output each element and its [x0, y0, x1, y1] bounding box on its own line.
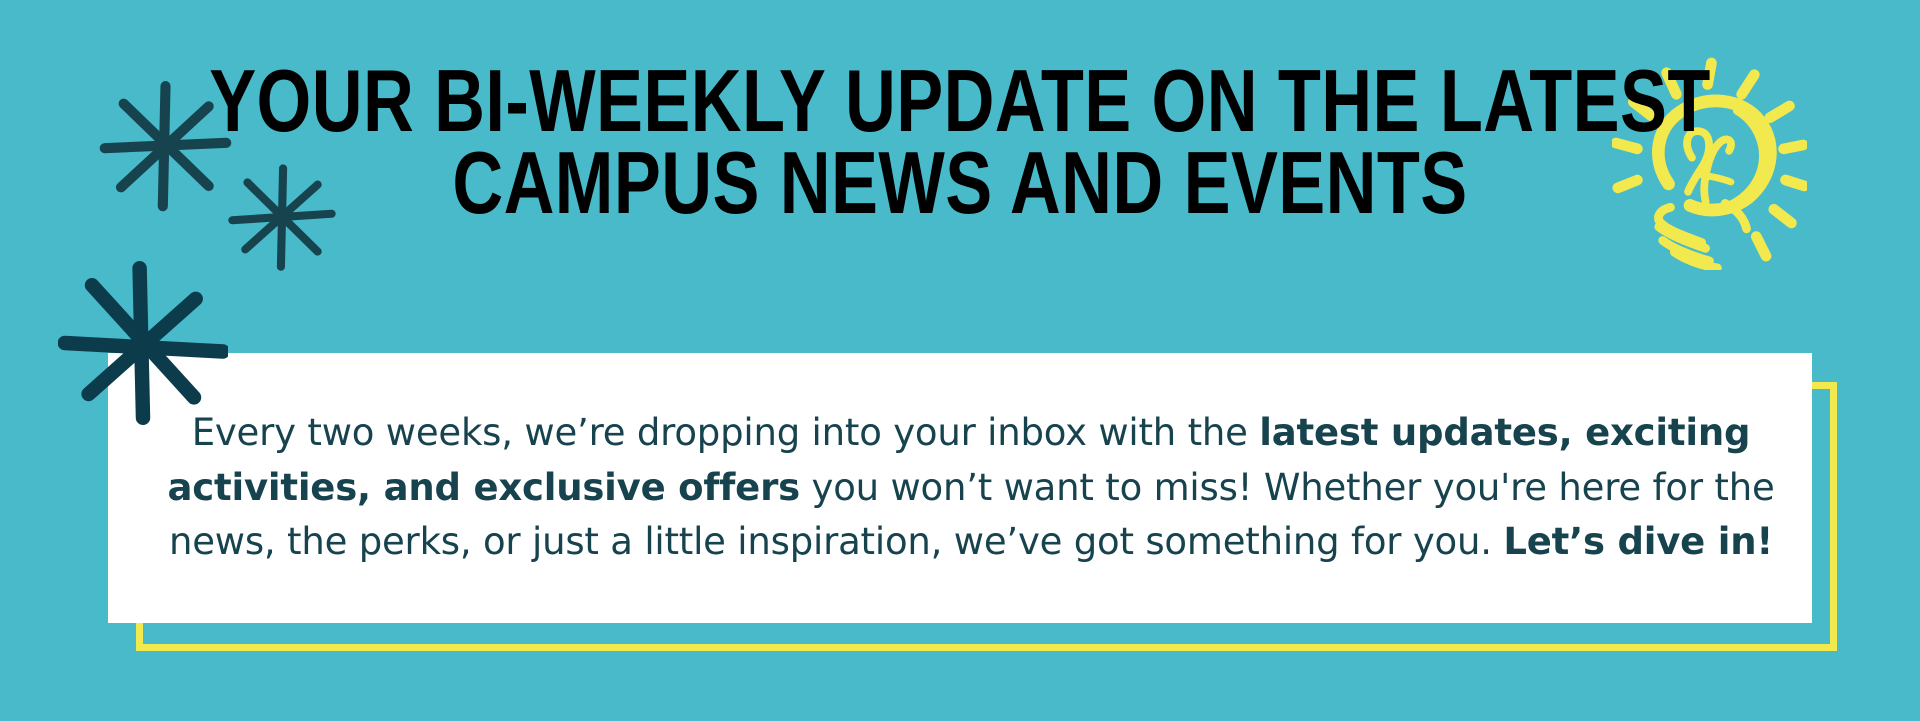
intro-text-part-1: Every two weeks, we’re dropping into you… — [192, 411, 1260, 454]
headline-line-1: YOUR BI-WEEKLY UPDATE ON THE LATEST — [192, 60, 1728, 142]
page-title: YOUR BI-WEEKLY UPDATE ON THE LATEST CAMP… — [0, 60, 1920, 224]
newsletter-banner: YOUR BI-WEEKLY UPDATE ON THE LATEST CAMP… — [0, 0, 1920, 721]
intro-card: Every two weeks, we’re dropping into you… — [108, 353, 1843, 655]
headline-line-2: CAMPUS NEWS AND EVENTS — [192, 142, 1728, 224]
card-content: Every two weeks, we’re dropping into you… — [108, 353, 1812, 623]
intro-text-bold-2: Let’s dive in! — [1503, 520, 1773, 563]
intro-paragraph: Every two weeks, we’re dropping into you… — [160, 406, 1782, 570]
